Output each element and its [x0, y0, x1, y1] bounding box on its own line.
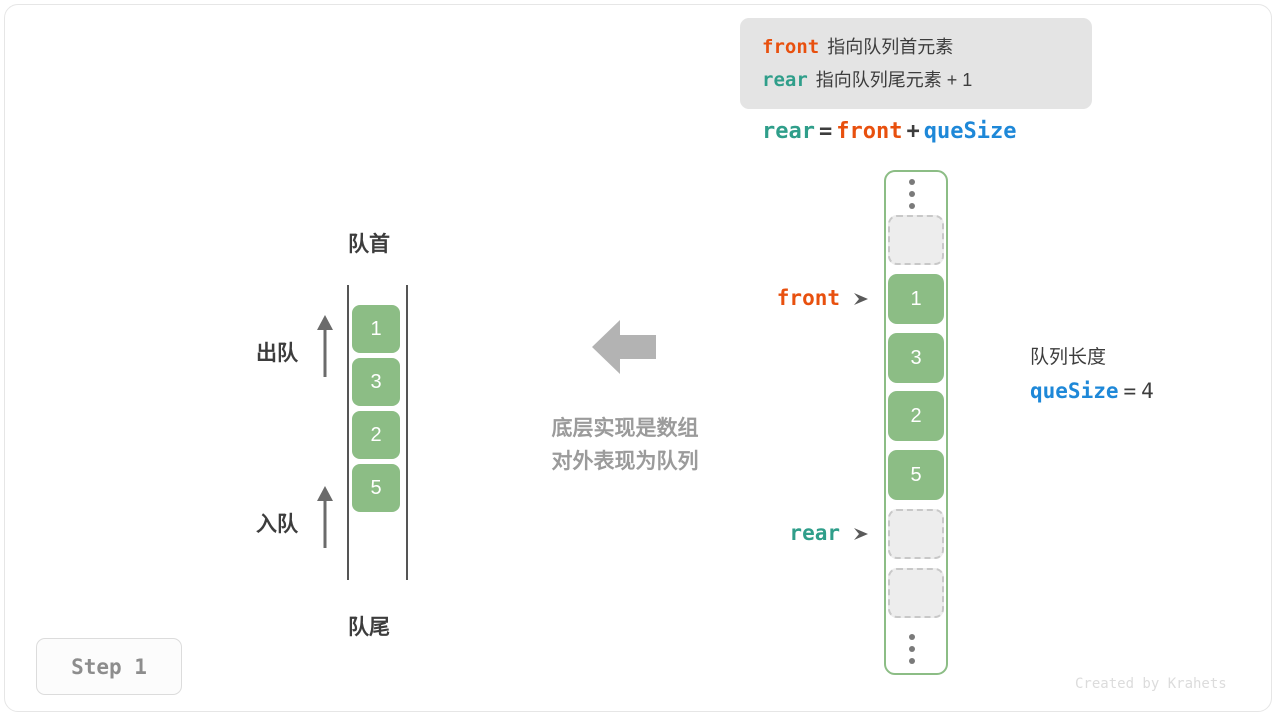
step-badge: Step 1	[36, 638, 182, 695]
front-pointer-label: front	[700, 286, 840, 311]
queue-rail-right	[406, 285, 408, 580]
queue-head-label: 队首	[348, 228, 390, 258]
formula-plus: +	[902, 119, 923, 144]
credit-text: Created by Krahets	[1075, 676, 1227, 692]
array-slot-empty	[888, 509, 944, 559]
queue-tail-label: 队尾	[348, 611, 390, 641]
dequeue-label: 出队	[256, 337, 298, 367]
enqueue-arrow-icon	[314, 486, 336, 553]
queue-size-note: 队列长度 queSize=4	[1030, 342, 1154, 409]
quesize-value: 4	[1141, 379, 1154, 403]
center-caption: 底层实现是数组 对外表现为队列	[527, 412, 723, 478]
array-slot-filled: 1	[888, 274, 944, 324]
diagram-canvas: front指向队列首元素 rear指向队列尾元素 + 1 rear=front+…	[0, 0, 1280, 720]
array-slot-filled: 5	[888, 450, 944, 500]
dequeue-arrow-icon	[314, 315, 336, 382]
legend-term-rear: rear	[762, 69, 808, 91]
formula-equals: =	[815, 119, 836, 144]
queue-cell: 3	[352, 358, 400, 406]
formula-rhs-quesize: queSize	[924, 119, 1017, 144]
quesize-equals: =	[1119, 379, 1142, 403]
formula-rhs-front: front	[836, 119, 902, 144]
queue-size-expression: queSize=4	[1030, 374, 1154, 409]
array-slot-filled: 3	[888, 333, 944, 383]
queue-size-title: 队列长度	[1030, 342, 1154, 374]
left-arrow-icon	[592, 318, 656, 381]
legend-desc-rear: 指向队列尾元素 + 1	[816, 70, 973, 90]
queue-rail-left	[347, 285, 349, 580]
legend-term-front: front	[762, 36, 819, 58]
rear-pointer-label: rear	[700, 521, 840, 546]
legend-desc-front: 指向队列首元素	[827, 37, 953, 57]
pointer-formula: rear=front+queSize	[762, 118, 1016, 144]
array-slot-filled: 2	[888, 391, 944, 441]
vertical-ellipsis-icon	[909, 634, 915, 670]
formula-lhs: rear	[762, 119, 815, 144]
legend-line-front: front指向队列首元素	[762, 31, 1092, 64]
front-pointer-arrow-icon	[854, 292, 866, 304]
array-slot-empty	[888, 568, 944, 618]
array-slot-empty	[888, 215, 944, 265]
enqueue-label: 入队	[256, 508, 298, 538]
queue-cell: 1	[352, 305, 400, 353]
queue-cell: 2	[352, 411, 400, 459]
pointer-legend-box: front指向队列首元素 rear指向队列尾元素 + 1	[740, 18, 1092, 109]
caption-line-2: 对外表现为队列	[527, 445, 723, 478]
quesize-var: queSize	[1030, 379, 1119, 403]
queue-cell: 5	[352, 464, 400, 512]
vertical-ellipsis-icon	[909, 179, 915, 215]
legend-line-rear: rear指向队列尾元素 + 1	[762, 64, 1092, 97]
rear-pointer-arrow-icon	[854, 527, 866, 539]
caption-line-1: 底层实现是数组	[527, 412, 723, 445]
